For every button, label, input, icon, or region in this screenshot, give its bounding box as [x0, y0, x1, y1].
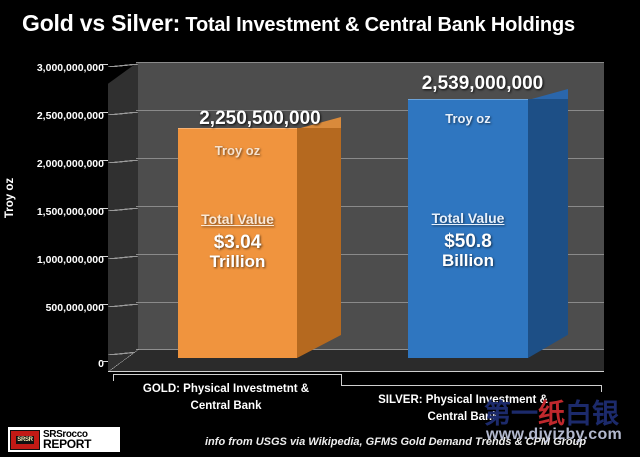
axis-connector — [108, 208, 138, 211]
page-title: Gold vs Silver: Total Investment & Centr… — [22, 10, 632, 42]
category-label-gold-line2: Central Bank — [112, 398, 340, 415]
y-axis-tick — [102, 64, 108, 65]
y-tick-label: 3,000,000,000 — [37, 62, 104, 74]
axis-connector — [108, 112, 138, 115]
category-label-silver-line1: SILVER: Physical Investment & — [342, 392, 584, 409]
title-sub: Total Investment & Central Bank Holdings — [180, 14, 575, 36]
category-axis-line — [341, 385, 602, 386]
floor-front-edge — [108, 371, 604, 372]
bar-silver-front-face — [408, 99, 528, 358]
srsrocco-logo-text: SRSrocco REPORT — [43, 430, 91, 449]
axis-connector — [108, 256, 138, 259]
category-label-gold: GOLD: Physical Investmetnt & Central Ban… — [112, 381, 340, 416]
category-label-silver-line2: Central Bank — [342, 409, 584, 426]
category-separator — [601, 385, 602, 392]
category-label-gold-line1: GOLD: Physical Investmetnt & — [112, 381, 340, 398]
srsrocco-report-logo: SRSR SRSrocco REPORT — [8, 427, 120, 452]
chart-left-wall — [108, 62, 138, 372]
category-axis-line — [113, 374, 341, 375]
y-axis-tick — [102, 304, 108, 305]
y-tick-label: 500,000,000 — [46, 302, 104, 314]
y-tick-label: 1,500,000,000 — [37, 206, 104, 218]
source-note: info from USGS via Wikipedia, GFMS Gold … — [205, 436, 586, 448]
bar-gold-front-face — [178, 128, 297, 358]
y-axis-tick — [102, 160, 108, 161]
y-axis-tick — [102, 112, 108, 113]
axis-connector — [108, 160, 138, 163]
floor-side-edge — [108, 349, 138, 372]
y-tick-label: 1,000,000,000 — [37, 254, 104, 266]
y-tick-label: 2,500,000,000 — [37, 110, 104, 122]
logo-line-2: REPORT — [43, 440, 91, 450]
y-tick-label: 0 — [98, 358, 104, 370]
srsrocco-logo-icon: SRSR — [10, 430, 40, 450]
category-label-silver: SILVER: Physical Investment & Central Ba… — [342, 392, 584, 427]
category-separator — [113, 374, 114, 381]
y-axis-tick — [102, 208, 108, 209]
y-axis-title: Troy oz — [4, 168, 16, 228]
gridline — [136, 62, 604, 63]
y-tick-label: 2,000,000,000 — [37, 158, 104, 170]
y-axis-tick — [102, 361, 108, 362]
axis-connector — [108, 64, 138, 67]
axis-connector — [108, 304, 138, 307]
chart-screenshot: Gold vs Silver: Total Investment & Centr… — [0, 0, 640, 457]
bar-gold[interactable] — [178, 128, 297, 358]
title-main: Gold vs Silver: — [22, 10, 180, 36]
srsrocco-logo-icon-text: SRSR — [16, 436, 33, 444]
bar-gold-side-face — [297, 128, 341, 358]
y-axis-tick — [102, 256, 108, 257]
bar-silver-side-face — [528, 99, 568, 358]
bar-silver[interactable] — [408, 99, 528, 358]
